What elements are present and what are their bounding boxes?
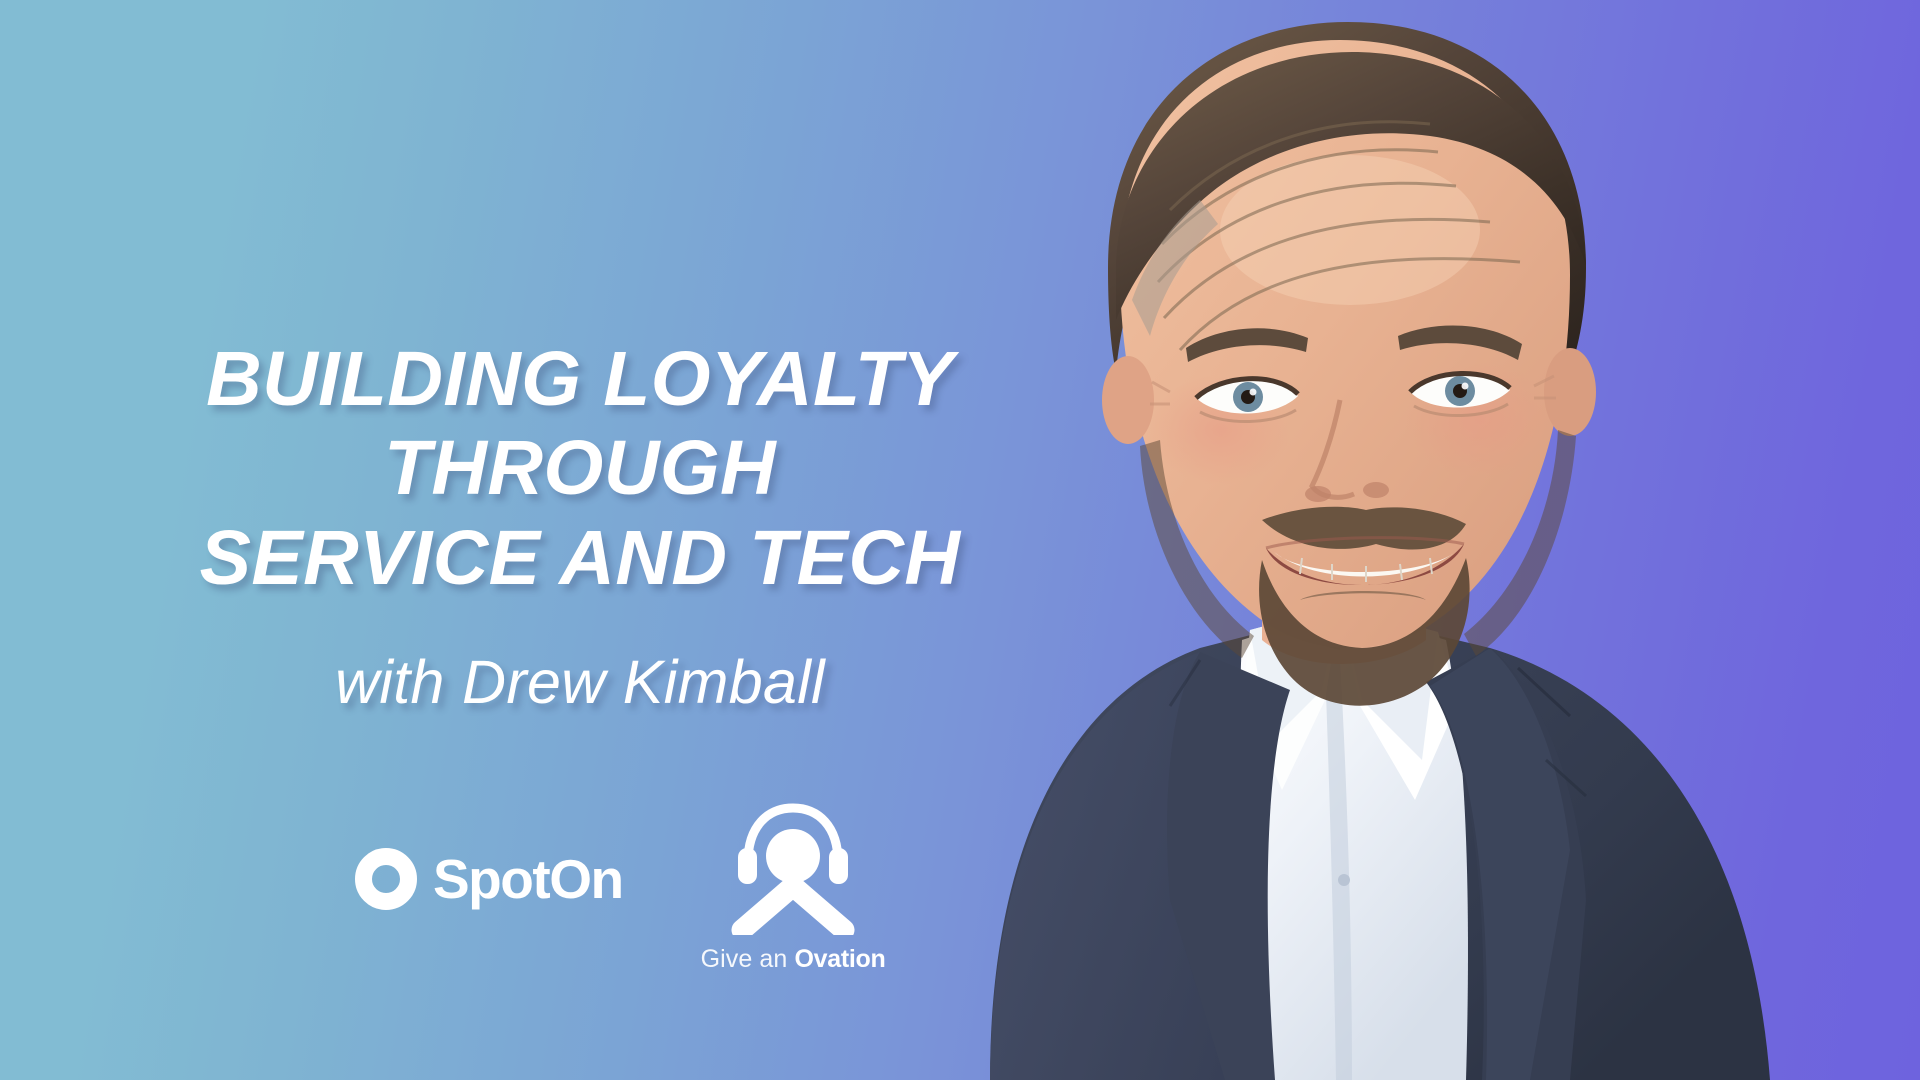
- ovation-tagline-bold: Ovation: [794, 945, 885, 973]
- portrait-face: [1100, 20, 1600, 680]
- spoton-ring-icon: [355, 848, 417, 910]
- ovation-wordmark: Give an Ovation: [701, 945, 886, 974]
- portrait-hair: [1108, 22, 1586, 372]
- portrait-neck: [1262, 498, 1426, 664]
- portrait-eyebrow-right: [1398, 326, 1522, 360]
- logo-row: SpotOn Give an Ovatio: [355, 800, 885, 974]
- portrait-mustache: [1262, 507, 1466, 550]
- portrait-eye-left: [1196, 379, 1298, 422]
- ovation-logo: Give an Ovation: [701, 800, 886, 974]
- podcast-title-card: BUILDING LOYALTY THROUGH SERVICE AND TEC…: [0, 0, 1920, 1080]
- portrait-ear-right: [1544, 348, 1596, 436]
- spoton-wordmark: SpotOn: [433, 852, 623, 907]
- portrait-hair-strands: [1158, 122, 1520, 350]
- portrait-beard: [1259, 558, 1470, 706]
- ovation-headphones-person-icon: [718, 800, 868, 935]
- portrait-smile: [1266, 538, 1464, 585]
- portrait-eye-right: [1410, 373, 1510, 415]
- portrait-nose: [1312, 400, 1354, 497]
- portrait-eyebrow-left: [1186, 328, 1308, 362]
- episode-subtitle: with Drew Kimball: [0, 647, 1160, 717]
- spoton-logo: SpotOn: [355, 848, 623, 910]
- episode-title: BUILDING LOYALTY THROUGH SERVICE AND TEC…: [0, 335, 1160, 603]
- title-text-block: BUILDING LOYALTY THROUGH SERVICE AND TEC…: [0, 335, 1160, 717]
- ovation-tagline-light: Give an: [701, 945, 788, 973]
